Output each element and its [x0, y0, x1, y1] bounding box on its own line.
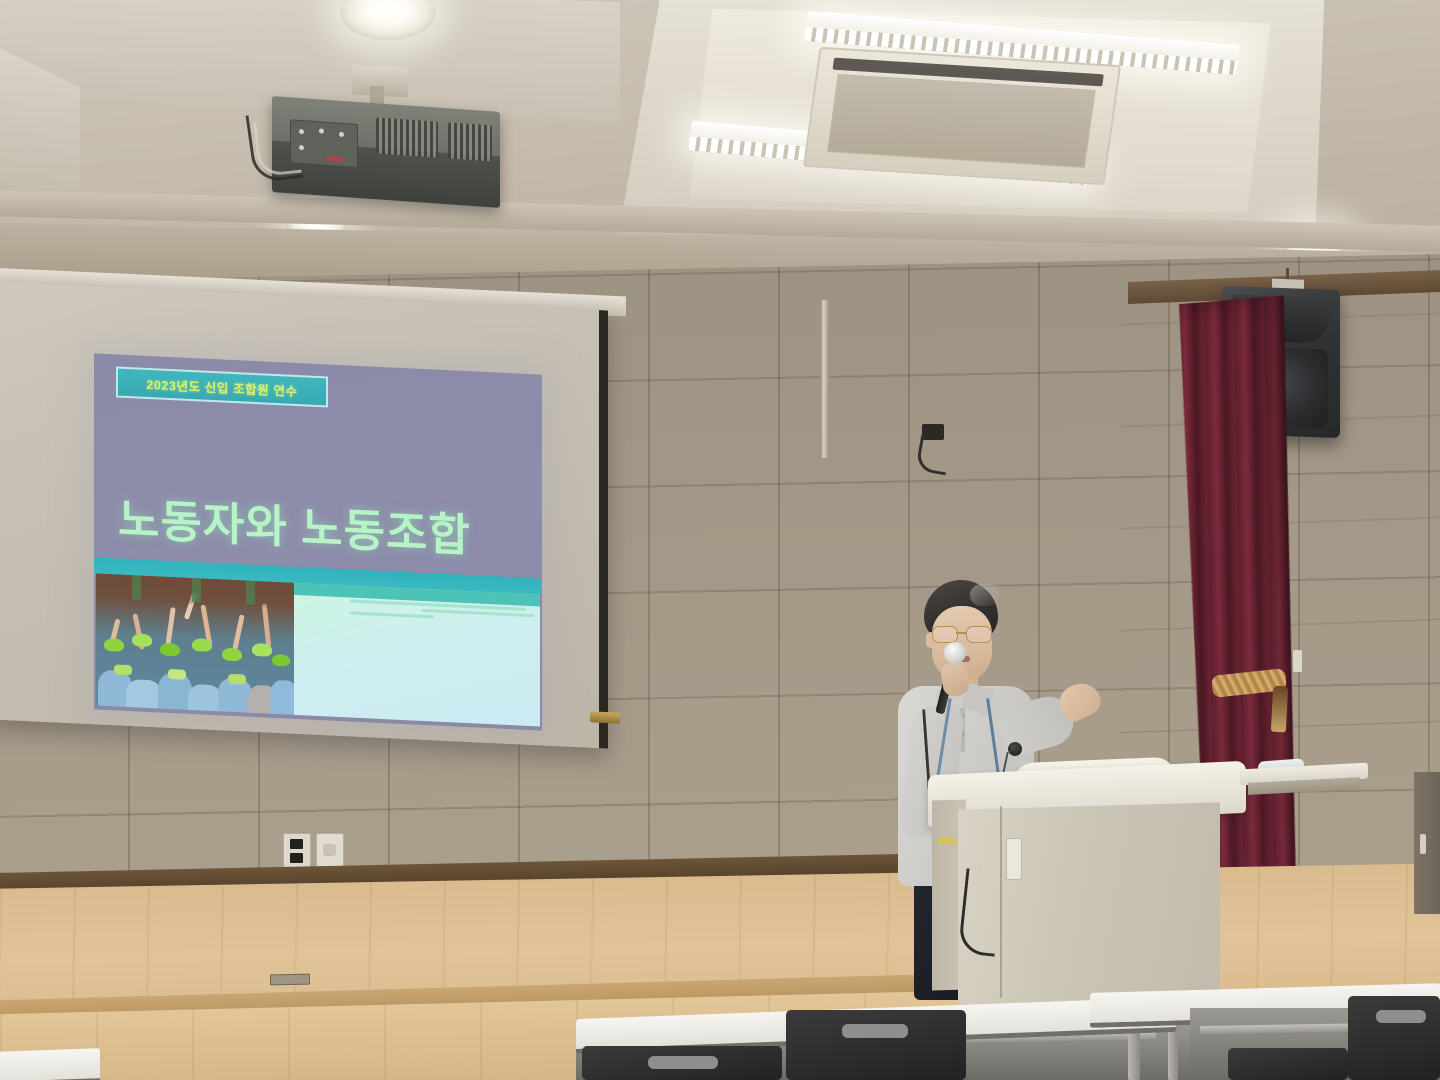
slide-panel-line — [350, 612, 434, 619]
projected-slide: 2023년도 신입 조합원 연수 노동자와 노동조합 — [94, 353, 542, 730]
slide-banner-label: 2023년도 신입 조합원 연수 — [146, 374, 297, 400]
lecture-hall-photo: EV 2023년도 신입 조합원 연수 노동자와 노동조합 — [0, 0, 1440, 1080]
glasses-icon — [932, 626, 994, 641]
outlet-jack[interactable] — [290, 839, 303, 849]
floor-outlet[interactable] — [270, 974, 310, 986]
podium-control-plate[interactable] — [1006, 838, 1022, 880]
podium-label-sticker — [938, 838, 956, 845]
ac-grille — [827, 74, 1096, 168]
presenter-hair-highlight — [970, 584, 1000, 606]
wall-power-socket[interactable] — [316, 833, 344, 869]
wall-outlet-plate[interactable] — [283, 833, 311, 869]
glasses-bridge — [956, 632, 966, 634]
conference-table[interactable] — [0, 1048, 100, 1080]
ceiling — [0, 0, 1440, 290]
screen-weight-bar — [590, 711, 620, 724]
projector-button[interactable] — [299, 129, 304, 134]
ceiling-projector — [272, 96, 500, 208]
projector-button[interactable] — [319, 128, 324, 133]
curtain-hook — [1293, 650, 1302, 672]
screen-edge-right — [599, 310, 608, 748]
glasses-lens — [966, 626, 992, 643]
projector-vent — [448, 122, 492, 161]
outlet-jack[interactable] — [290, 853, 303, 863]
far-door[interactable] — [1414, 772, 1440, 914]
clip-microphone-icon — [1008, 742, 1022, 756]
stacking-chair[interactable] — [1228, 1048, 1348, 1080]
slide-banner: 2023년도 신입 조합원 연수 — [116, 366, 328, 407]
door-handle-icon[interactable] — [1420, 834, 1426, 854]
chair-handle-cutout — [1376, 1010, 1426, 1023]
chair-handle-cutout — [648, 1056, 718, 1069]
microphone-icon — [944, 642, 966, 664]
stacking-chair[interactable] — [582, 1046, 782, 1080]
slide-crowd-photo — [96, 574, 294, 715]
wall-pipe — [820, 300, 829, 458]
slide-content-panel — [294, 583, 540, 727]
slide-title: 노동자와 노동조합 — [118, 483, 518, 567]
power-socket[interactable] — [323, 844, 336, 856]
stacking-chair[interactable] — [1348, 996, 1440, 1080]
chair-handle-cutout — [842, 1024, 908, 1038]
podium-seam — [1000, 806, 1002, 998]
projector-button[interactable] — [339, 132, 344, 137]
ceiling-cassette-air-conditioner — [803, 47, 1121, 186]
projector-power-button[interactable] — [327, 156, 343, 162]
curtain-tassel — [1271, 686, 1288, 733]
speaker-bracket — [1272, 279, 1304, 289]
projector-vent — [376, 117, 438, 157]
glasses-lens — [932, 626, 958, 643]
stacking-chair[interactable] — [786, 1010, 966, 1080]
